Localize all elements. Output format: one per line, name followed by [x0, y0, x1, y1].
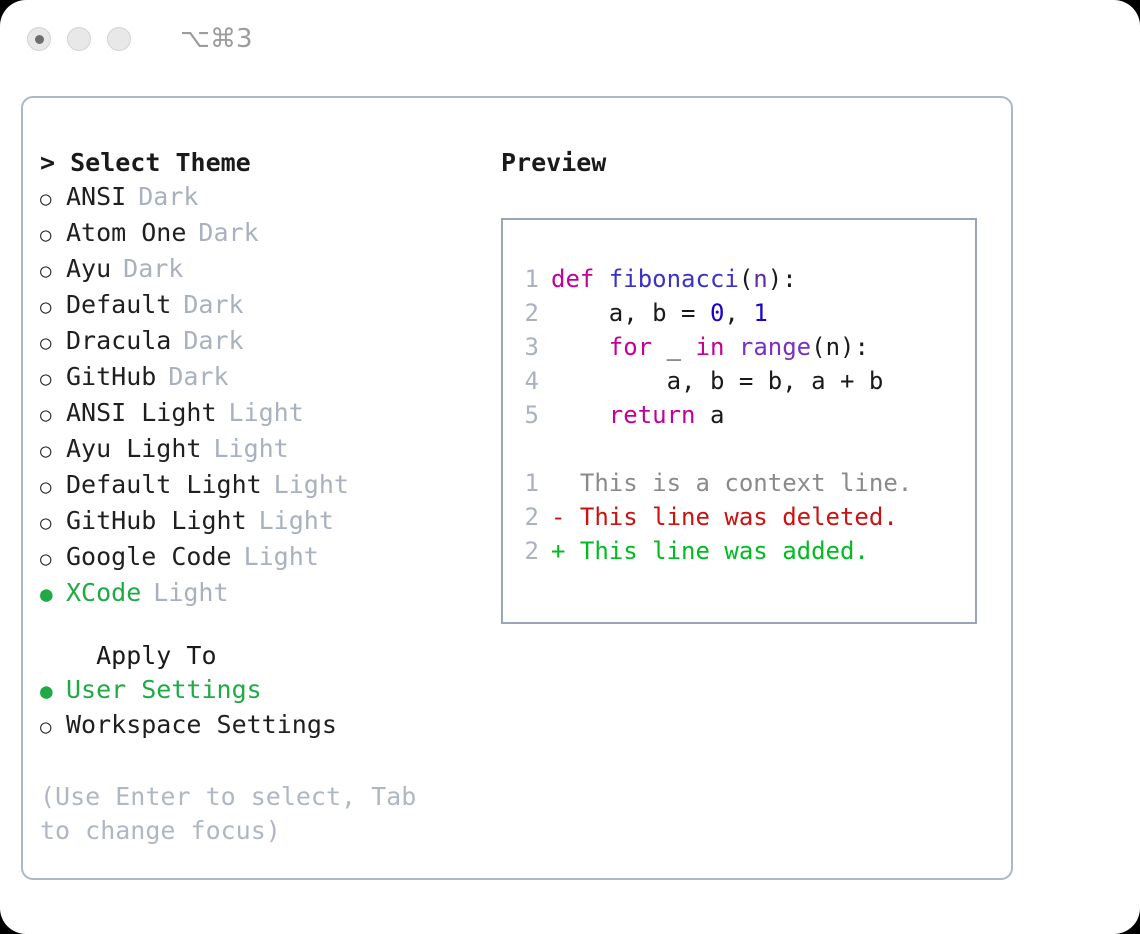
theme-list: ○ANSIDark○Atom OneDark○AyuDark○DefaultDa…	[40, 180, 493, 611]
theme-option-label: ANSI Light	[66, 396, 217, 430]
keyboard-shortcut-label: ⌥⌘3	[180, 24, 253, 54]
code-line-number: 4	[517, 364, 539, 398]
theme-option-label: Atom One	[66, 216, 186, 250]
theme-option-label: Default Light	[66, 468, 262, 502]
preview-column: Preview 1def fibonacci(n):2 a, b = 0, 13…	[493, 98, 1011, 878]
diff-line-text: This is a context line.	[551, 469, 912, 497]
theme-option-google-code[interactable]: ○Google CodeLight	[40, 540, 493, 576]
theme-option-label: Default	[66, 288, 171, 322]
main-panel: > Select Theme ○ANSIDark○Atom OneDark○Ay…	[21, 96, 1013, 880]
theme-variant-badge: Light	[229, 396, 304, 430]
theme-option-xcode[interactable]: ●XCodeLight	[40, 576, 493, 611]
code-token: a, b =	[551, 299, 710, 327]
theme-option-label: XCode	[66, 576, 141, 610]
code-token: in	[696, 333, 725, 361]
theme-variant-badge: Dark	[138, 180, 198, 214]
code-line: 3 for _ in range(n):	[517, 330, 975, 364]
code-line-number: 2	[517, 296, 539, 330]
select-theme-header: > Select Theme	[40, 146, 493, 180]
theme-variant-badge: Dark	[183, 288, 243, 322]
theme-option-label: Google Code	[66, 540, 232, 574]
diff-sample: 1 This is a context line.2- This line wa…	[517, 466, 975, 568]
theme-variant-badge: Dark	[168, 360, 228, 394]
theme-option-label: Ayu	[66, 252, 111, 286]
code-token	[551, 333, 609, 361]
theme-variant-badge: Dark	[123, 252, 183, 286]
theme-variant-badge: Light	[244, 540, 319, 574]
code-token: ,	[724, 299, 753, 327]
theme-option-ansi[interactable]: ○ANSIDark	[40, 180, 493, 216]
apply-to-option-label: User Settings	[66, 673, 262, 707]
theme-option-github-light[interactable]: ○GitHub LightLight	[40, 504, 493, 540]
apply-to-title: Apply To	[40, 639, 493, 673]
theme-option-default-light[interactable]: ○Default LightLight	[40, 468, 493, 504]
theme-option-label: GitHub Light	[66, 504, 247, 538]
preview-box: 1def fibonacci(n):2 a, b = 0, 13 for _ i…	[501, 218, 977, 624]
code-token	[724, 333, 738, 361]
theme-option-label: Ayu Light	[66, 432, 201, 466]
code-token: 0	[710, 299, 724, 327]
keyboard-hint: (Use Enter to select, Tab to change focu…	[40, 780, 460, 848]
diff-line-number: 2	[517, 534, 539, 568]
radio-unselected-icon: ○	[40, 326, 66, 360]
radio-unselected-icon: ○	[40, 506, 66, 540]
theme-variant-badge: Dark	[183, 324, 243, 358]
diff-line: 2+ This line was added.	[517, 534, 975, 568]
code-token: n	[753, 265, 767, 293]
theme-variant-badge: Dark	[198, 216, 258, 250]
theme-option-ayu-light[interactable]: ○Ayu LightLight	[40, 432, 493, 468]
apply-to-option-label: Workspace Settings	[66, 708, 337, 742]
traffic-light-dot-icon	[35, 35, 44, 44]
code-token: (n):	[811, 333, 869, 361]
code-token: ):	[768, 265, 797, 293]
code-diff-separator	[517, 432, 975, 466]
radio-unselected-icon: ○	[40, 398, 66, 432]
radio-unselected-icon: ○	[40, 290, 66, 324]
radio-unselected-icon: ○	[40, 362, 66, 396]
radio-unselected-icon: ○	[40, 710, 66, 744]
diff-line-number: 2	[517, 500, 539, 534]
code-token: range	[739, 333, 811, 361]
theme-option-label: Dracula	[66, 324, 171, 358]
code-token: for	[609, 333, 652, 361]
code-token: fibonacci	[609, 265, 739, 293]
theme-option-default[interactable]: ○DefaultDark	[40, 288, 493, 324]
code-line: 1def fibonacci(n):	[517, 262, 975, 296]
code-token: return	[609, 401, 696, 429]
code-line: 2 a, b = 0, 1	[517, 296, 975, 330]
code-token: (	[739, 265, 753, 293]
app-window: ⌥⌘3 > Select Theme ○ANSIDark○Atom OneDar…	[0, 0, 1140, 934]
apply-to-option-workspace-settings[interactable]: ○Workspace Settings	[40, 708, 493, 744]
preview-header: Preview	[501, 146, 1011, 180]
theme-option-label: GitHub	[66, 360, 156, 394]
theme-option-ansi-light[interactable]: ○ANSI LightLight	[40, 396, 493, 432]
radio-unselected-icon: ○	[40, 182, 66, 216]
radio-unselected-icon: ○	[40, 434, 66, 468]
code-token	[551, 401, 609, 429]
apply-to-list: ●User Settings○Workspace Settings	[40, 673, 493, 744]
theme-option-atom-one[interactable]: ○Atom OneDark	[40, 216, 493, 252]
diff-line-text: - This line was deleted.	[551, 503, 898, 531]
radio-unselected-icon: ○	[40, 218, 66, 252]
radio-selected-icon: ●	[40, 577, 66, 611]
traffic-light-maximize[interactable]	[107, 27, 131, 51]
diff-line: 1 This is a context line.	[517, 466, 975, 500]
radio-unselected-icon: ○	[40, 470, 66, 504]
theme-variant-badge: Light	[259, 504, 334, 538]
code-token: a, b = b, a + b	[551, 367, 883, 395]
code-token: def	[551, 265, 609, 293]
diff-line-text: + This line was added.	[551, 537, 869, 565]
theme-selection-column: > Select Theme ○ANSIDark○Atom OneDark○Ay…	[23, 98, 493, 878]
theme-variant-badge: Light	[213, 432, 288, 466]
code-token: a	[696, 401, 725, 429]
code-token: _	[652, 333, 695, 361]
code-sample: 1def fibonacci(n):2 a, b = 0, 13 for _ i…	[517, 262, 975, 432]
code-line-number: 3	[517, 330, 539, 364]
radio-selected-icon: ●	[40, 674, 66, 708]
code-line-number: 5	[517, 398, 539, 432]
radio-unselected-icon: ○	[40, 254, 66, 288]
code-token: 1	[753, 299, 767, 327]
title-bar: ⌥⌘3	[0, 0, 1140, 78]
theme-variant-badge: Light	[274, 468, 349, 502]
code-line: 5 return a	[517, 398, 975, 432]
theme-option-label: ANSI	[66, 180, 126, 214]
theme-option-ayu[interactable]: ○AyuDark	[40, 252, 493, 288]
diff-line-number: 1	[517, 466, 539, 500]
theme-option-github[interactable]: ○GitHubDark	[40, 360, 493, 396]
code-line: 4 a, b = b, a + b	[517, 364, 975, 398]
traffic-light-minimize[interactable]	[67, 27, 91, 51]
code-line-number: 1	[517, 262, 539, 296]
apply-to-option-user-settings[interactable]: ●User Settings	[40, 673, 493, 708]
theme-option-dracula[interactable]: ○DraculaDark	[40, 324, 493, 360]
theme-variant-badge: Light	[153, 576, 228, 610]
diff-line: 2- This line was deleted.	[517, 500, 975, 534]
traffic-light-close[interactable]	[27, 27, 51, 51]
radio-unselected-icon: ○	[40, 542, 66, 576]
